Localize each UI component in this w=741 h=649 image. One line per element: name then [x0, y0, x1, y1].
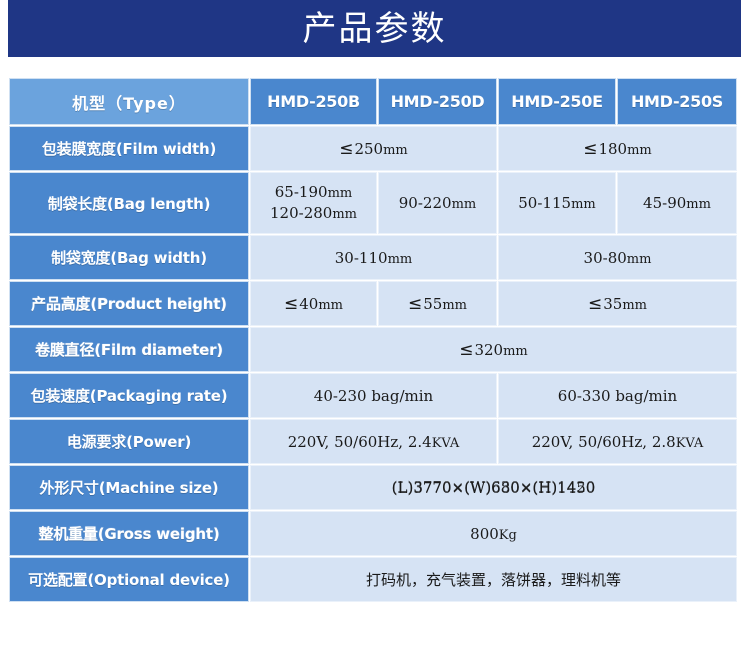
column-header-model-d: HMD-250D	[378, 78, 497, 125]
unit-suffix: mm	[328, 186, 353, 201]
spec-value-text: ≤55mm	[408, 295, 467, 313]
table-row: 外形尺寸(Machine size)(L)3770×(W)630×(H)1420…	[9, 465, 737, 510]
spec-value-text: 800Kg	[470, 525, 517, 543]
spec-value-cell: 打码机，充气装置，落饼器，理料机等	[250, 557, 737, 602]
less-equal-glyph: ≤	[284, 294, 299, 314]
table-row: 整机重量(Gross weight)800Kg	[9, 511, 737, 556]
table-row: 制袋长度(Bag length)65-190mm120-280mm90-220m…	[9, 172, 737, 234]
spec-value-cell: ≤35mm	[498, 281, 737, 326]
spec-value-cell: 45-90mm	[617, 172, 737, 234]
page-title-banner: 产品参数	[8, 0, 741, 57]
spec-value-cell: ≤55mm	[378, 281, 497, 326]
spec-value-cell: 30-80mm	[498, 235, 737, 280]
table-row: 电源要求(Power)220V, 50/60Hz, 2.4KVA220V, 50…	[9, 419, 737, 464]
row-label: 电源要求(Power)	[9, 419, 249, 464]
page-title: 产品参数	[303, 12, 447, 46]
column-header-model-e: HMD-250E	[498, 78, 616, 125]
table-row: 产品高度(Product height)≤40mm≤55mm≤35mm	[9, 281, 737, 326]
row-label: 产品高度(Product height)	[9, 281, 249, 326]
spec-value-text: ≤180mm	[583, 140, 652, 158]
unit-suffix: KVA	[432, 436, 460, 451]
unit-suffix: mm	[332, 207, 357, 222]
less-equal-glyph: ≤	[459, 340, 474, 360]
table-row: 包装膜宽度(Film width)≤250mm≤180mm	[9, 126, 737, 171]
less-equal-glyph: ≤	[588, 294, 603, 314]
spec-value-text: 打码机，充气装置，落饼器，理料机等	[366, 571, 621, 589]
spec-value-cell: 220V, 50/60Hz, 2.8KVA	[498, 419, 737, 464]
spec-value-cell: 65-190mm120-280mm	[250, 172, 377, 234]
unit-suffix: mm	[686, 197, 711, 212]
spec-value-cell: 800Kg	[250, 511, 737, 556]
unit-suffix: mm	[627, 143, 652, 158]
row-label: 整机重量(Gross weight)	[9, 511, 249, 556]
spec-value-text: 220V, 50/60Hz, 2.8KVA	[532, 433, 704, 451]
spec-value-cell: ≤320mm	[250, 327, 737, 372]
unit-suffix: mm	[571, 197, 596, 212]
spec-value-text: ≤250mm	[339, 140, 408, 158]
unit-suffix: mm	[627, 252, 652, 267]
spec-value-cell: 30-110mm	[250, 235, 497, 280]
spec-value-cell: 220V, 50/60Hz, 2.4KVA	[250, 419, 497, 464]
spec-value-text: 30-110mm	[335, 249, 412, 267]
spec-value-cell: 60-330 bag/min	[498, 373, 737, 418]
spec-value-cell: ≤250mm	[250, 126, 497, 171]
spec-value-text: 30-80mm	[584, 249, 652, 267]
spec-value-text: 40-230 bag/min	[314, 387, 433, 405]
spec-value-ghost-overlay: (L)3770×(W)630×(H)1420	[392, 478, 596, 496]
table-row: 包装速度(Packaging rate)40-230 bag/min60-330…	[9, 373, 737, 418]
unit-suffix: mm	[622, 298, 647, 313]
spec-value-cell: ≤180mm	[498, 126, 737, 171]
spec-value-text: 50-115mm	[518, 194, 595, 212]
product-spec-table: 机型（Type）HMD-250BHMD-250DHMD-250EHMD-250S…	[8, 77, 738, 603]
spec-value-text: 90-220mm	[399, 194, 476, 212]
less-equal-glyph: ≤	[583, 139, 598, 159]
table-row: 制袋宽度(Bag width)30-110mm30-80mm	[9, 235, 737, 280]
spec-value-text: 45-90mm	[643, 194, 711, 212]
table-row: 卷膜直径(Film diameter)≤320mm	[9, 327, 737, 372]
column-header-model-s: HMD-250S	[617, 78, 737, 125]
unit-suffix: mm	[452, 197, 477, 212]
spec-value-cell: (L)3770×(W)630×(H)1420(L)3770×(W)680×(H)…	[250, 465, 737, 510]
spec-value-text: ≤320mm	[459, 341, 528, 359]
row-label: 外形尺寸(Machine size)	[9, 465, 249, 510]
column-header-model-b: HMD-250B	[250, 78, 377, 125]
unit-suffix: mm	[383, 143, 408, 158]
unit-suffix: mm	[503, 344, 528, 359]
spec-value-line: 120-280mm	[251, 203, 376, 224]
row-label: 卷膜直径(Film diameter)	[9, 327, 249, 372]
unit-suffix: Kg	[499, 528, 517, 543]
less-equal-glyph: ≤	[408, 294, 423, 314]
spec-value-text: ≤40mm	[284, 295, 343, 313]
unit-suffix: mm	[388, 252, 413, 267]
row-label: 可选配置(Optional device)	[9, 557, 249, 602]
spec-value-cell: 40-230 bag/min	[250, 373, 497, 418]
row-label: 包装膜宽度(Film width)	[9, 126, 249, 171]
unit-suffix: mm	[442, 298, 467, 313]
less-equal-glyph: ≤	[339, 139, 354, 159]
spec-value-line: 65-190mm	[251, 182, 376, 203]
table-row: 可选配置(Optional device)打码机，充气装置，落饼器，理料机等	[9, 557, 737, 602]
spec-value-text: 60-330 bag/min	[558, 387, 677, 405]
spec-value-text: ≤35mm	[588, 295, 647, 313]
spec-value-text: (L)3770×(W)630×(H)1420(L)3770×(W)680×(H)…	[392, 479, 596, 497]
row-label: 制袋长度(Bag length)	[9, 172, 249, 234]
row-label: 制袋宽度(Bag width)	[9, 235, 249, 280]
spec-value-text: 220V, 50/60Hz, 2.4KVA	[288, 433, 460, 451]
spec-value-cell: 50-115mm	[498, 172, 616, 234]
column-header-type: 机型（Type）	[9, 78, 249, 125]
row-label: 包装速度(Packaging rate)	[9, 373, 249, 418]
table-header-row: 机型（Type）HMD-250BHMD-250DHMD-250EHMD-250S	[9, 78, 737, 125]
unit-suffix: KVA	[676, 436, 704, 451]
spec-value-cell: 90-220mm	[378, 172, 497, 234]
unit-suffix: mm	[318, 298, 343, 313]
spec-value-cell: ≤40mm	[250, 281, 377, 326]
